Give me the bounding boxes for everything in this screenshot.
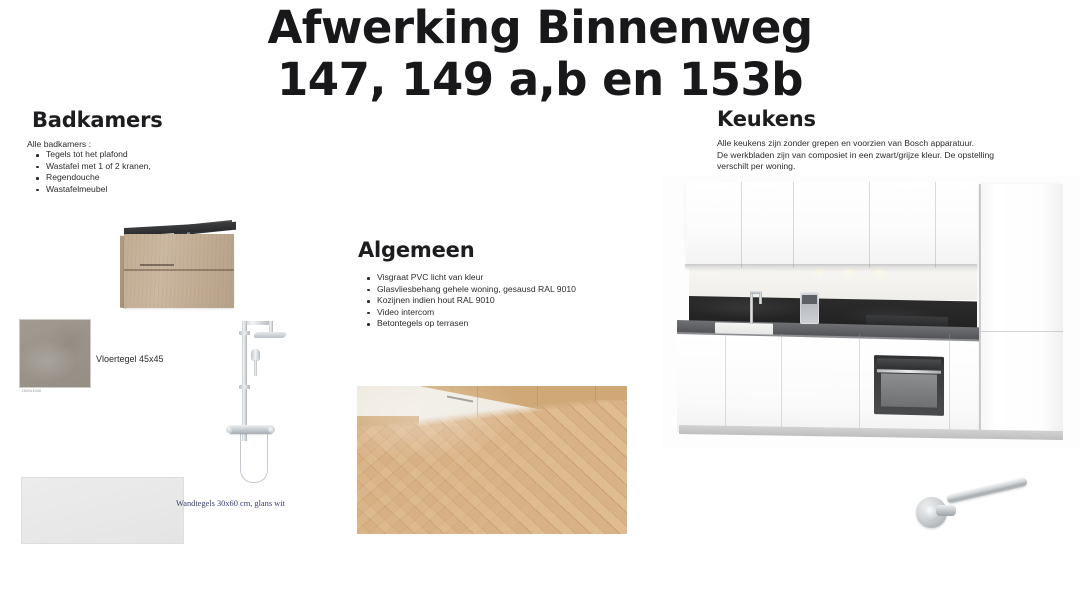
oven-control-panel — [877, 358, 941, 370]
kitchen-downlight — [871, 269, 887, 291]
kitchen-base-seam — [725, 334, 726, 432]
kitchen-upper-shadow — [685, 264, 977, 269]
keukens-line: De werkbladen zijn van composiet in een … — [717, 150, 1037, 162]
kitchen-upper-seam — [741, 182, 742, 268]
kitchen-sink — [715, 322, 773, 334]
title-line-1: Afwerking Binnenweg — [0, 2, 1080, 54]
list-item: Glasvliesbehang gehele woning, gesausd R… — [358, 284, 618, 296]
tall-cabinet — [981, 184, 1063, 434]
shower-hose — [240, 434, 268, 483]
mixer-knob-left — [226, 426, 233, 433]
kitchen-base-seam — [949, 334, 950, 432]
shower-top-arm — [242, 321, 272, 325]
brochure-page: Afwerking Binnenweg 147, 149 a,b en 153b… — [0, 0, 1080, 607]
section-heading-keukens: Keukens — [717, 107, 816, 131]
kitchen-upper-seam — [935, 182, 936, 268]
kitchen-base-seam — [859, 334, 860, 432]
rain-shower-head — [253, 332, 287, 338]
shower-collar-bottom — [239, 385, 250, 389]
kitchen-tap-drop — [759, 292, 762, 304]
list-item: Visgraat PVC licht van kleur — [358, 272, 618, 284]
keukens-paragraph: Alle keukens zijn zonder grepen en voorz… — [717, 138, 1037, 173]
kitchen-image — [663, 176, 1080, 448]
shower-riser — [242, 321, 247, 441]
list-item: Kozijnen indien hout RAL 9010 — [358, 295, 618, 307]
badkamers-list: Tegels tot het plafond Wastafel met 1 of… — [27, 149, 267, 195]
handle-lever — [946, 477, 1028, 504]
vanity-image — [118, 206, 240, 318]
vanity-handle — [140, 264, 174, 266]
vanity-body — [124, 234, 234, 308]
keukens-line: Alle keukens zijn zonder grepen en voorz… — [717, 138, 1037, 150]
list-item: Regendouche — [27, 172, 267, 184]
oven-door-glass — [881, 373, 937, 407]
keukens-line: verschilt per woning. — [717, 161, 1037, 173]
section-heading-badkamers: Badkamers — [32, 108, 163, 132]
page-title: Afwerking Binnenweg 147, 149 a,b en 153b — [0, 2, 1080, 106]
algemeen-list: Visgraat PVC licht van kleur Glasvliesbe… — [358, 272, 618, 330]
caption-floor-tile: Vloertegel 45x45 — [96, 354, 164, 365]
hand-shower-grip — [254, 360, 257, 376]
list-item: Betontegels op terrasen — [358, 318, 618, 330]
floor-tile-code: · 1920x1040 — [19, 389, 41, 393]
kitchen-back-wall — [689, 268, 977, 300]
kitchen-downlight — [841, 269, 857, 291]
title-line-2: 147, 149 a,b en 153b — [0, 54, 1080, 106]
coffee-machine-panel — [802, 295, 817, 304]
swatch-floor-tile — [19, 319, 91, 388]
herringbone-floor-image — [357, 386, 627, 534]
kitchen-tap-stem — [750, 291, 753, 324]
list-item: Tegels tot het plafond — [27, 149, 267, 161]
swatch-wall-tile — [21, 477, 184, 544]
floor-photo-sheen — [357, 386, 627, 534]
list-item: Wastafelmeubel — [27, 184, 267, 196]
caption-wall-tile: Wandtegels 30x60 cm, glans wit — [176, 498, 285, 509]
handle-neck — [936, 505, 956, 516]
kitchen-downlight — [811, 269, 827, 291]
list-item: Video intercom — [358, 307, 618, 319]
section-heading-algemeen: Algemeen — [358, 238, 474, 262]
door-handle-image — [908, 483, 1038, 545]
vanity-drawer-split — [124, 269, 234, 271]
kitchen-base-seam — [781, 334, 782, 432]
kitchen-upper-seam — [793, 182, 794, 268]
shower-column-image — [216, 303, 304, 485]
kitchen-upper-seam — [869, 182, 870, 268]
tall-cabinet-seam — [981, 331, 1063, 332]
mixer-knob-right — [268, 426, 275, 433]
list-item: Wastafel met 1 of 2 kranen, — [27, 161, 267, 173]
shower-collar-top — [239, 331, 250, 335]
